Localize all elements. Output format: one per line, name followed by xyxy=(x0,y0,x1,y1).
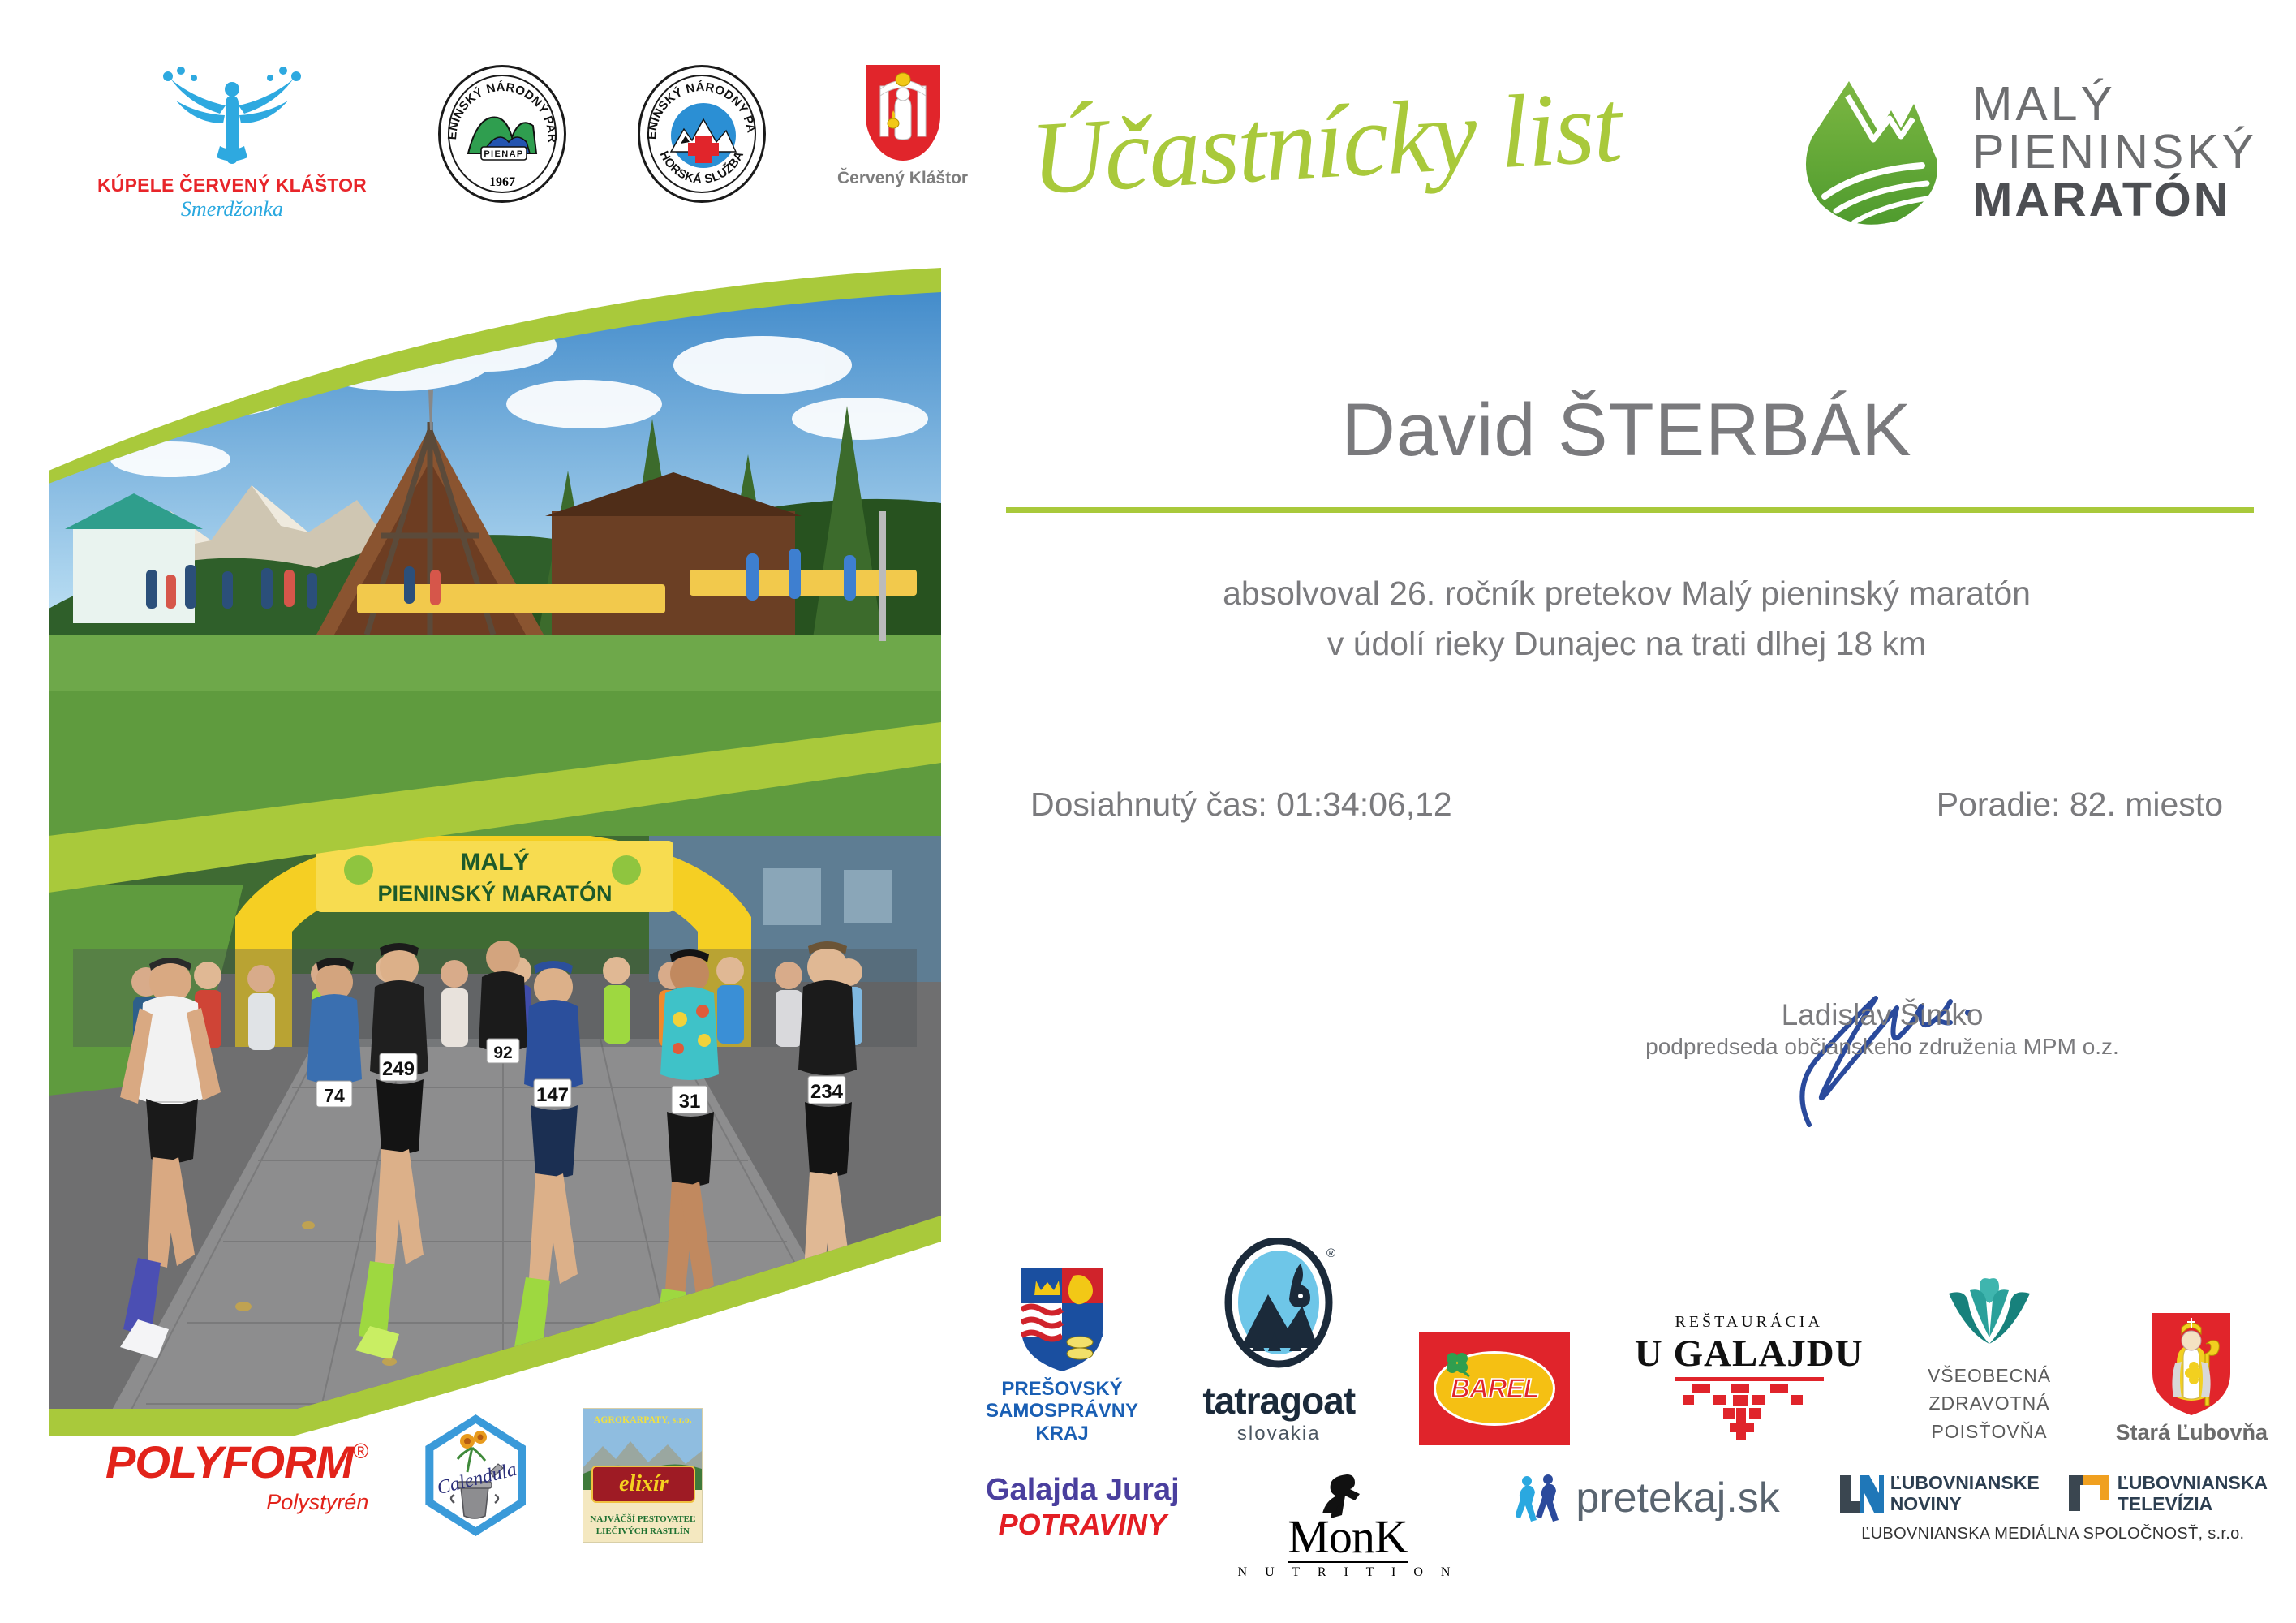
vzp-line-1: VŠEOBECNÁ xyxy=(1928,1362,2051,1390)
partner-logo-horska-sluzba: PIENINSKÝ NÁRODNÝ PARK HORSKÁ SLUŽBA xyxy=(638,65,766,203)
sponsor-name: elixír xyxy=(619,1471,669,1497)
page-title: Účastnícky list xyxy=(1028,69,1714,211)
barel-oval-icon: BAREL xyxy=(1434,1351,1555,1426)
sponsor-stara-lubovna: Stará Ľubovňa xyxy=(2115,1313,2268,1445)
svg-text:92: 92 xyxy=(493,1044,512,1062)
top-partner-logos: KÚPELE ČERVENÝ KLÁŠTOR Smerdžonka PIENIN… xyxy=(97,65,968,222)
sponsor-subname: Polystyrén xyxy=(105,1490,368,1515)
leaf-mountain-icon xyxy=(1800,75,1945,229)
ln-line-2: NOVINY xyxy=(1890,1494,2040,1515)
pienap-year: 1967 xyxy=(441,175,564,190)
stara-lubovna-crest-icon xyxy=(2152,1313,2230,1415)
cerveny-klastor-crest-icon xyxy=(866,65,940,161)
horska-sluzba-seal-icon: PIENINSKÝ NÁRODNÝ PARK HORSKÁ SLUŽBA xyxy=(638,65,766,203)
partner-logo-obec-cerveny-klastor: Červený Kláštor xyxy=(837,65,968,188)
event-photo-collage: MALÝ PIENINSKÝ MARATÓN xyxy=(49,268,941,1436)
sponsor-row-1: PREŠOVSKÝ SAMOSPRÁVNY KRAJ ® tatragoat s… xyxy=(986,1238,2268,1445)
sponsor-lubovnianske-media: ĽUBOVNIANSKE NOVINY ĽUBOVNIANSKA TELEVÍZ… xyxy=(1838,1473,2268,1543)
sponsor-presovsky-samospravny-kraj: PREŠOVSKÝ SAMOSPRÁVNY KRAJ xyxy=(986,1268,1138,1445)
water-angel-icon xyxy=(139,65,325,174)
pienap-seal-icon: PIENINSKÝ NÁRODNÝ PARK PIENAP 1967 xyxy=(438,65,566,203)
lt-mark-icon xyxy=(2067,1474,2111,1514)
body-line-2: v údolí rieky Dunajec na trati dlhej 18 … xyxy=(1006,618,2247,669)
sponsor-caption: PREŠOVSKÝ SAMOSPRÁVNY KRAJ xyxy=(986,1378,1138,1445)
participant-name: David ŠTERBÁK xyxy=(1006,388,2247,473)
galajda-line-1: Galajda Juraj xyxy=(986,1473,1180,1508)
agrokarpaty-caption: NAJVÄČŠÍ PESTOVATEĽ LIEČIVÝCH RASTLÍN xyxy=(583,1513,702,1537)
svg-text:MALÝ: MALÝ xyxy=(461,848,530,876)
tatragoat-icon: ® xyxy=(1221,1238,1336,1374)
sponsor-name: POLYFORM xyxy=(105,1436,353,1488)
title-divider xyxy=(1006,507,2254,513)
sponsor-subname: slovakia xyxy=(1237,1423,1321,1445)
result-time: Dosiahnutý čas: 01:34:06,12 xyxy=(1030,786,1452,824)
sponsor-name: tatragoat xyxy=(1202,1379,1355,1423)
sponsor-name: pretekaj.sk xyxy=(1576,1474,1779,1522)
two-runners-icon xyxy=(1516,1473,1567,1523)
registered-mark: ® xyxy=(353,1439,368,1464)
media-company-footer: ĽUBOVNIANSKA MEDIÁLNA SPOLOČNOSŤ, s.r.o. xyxy=(1861,1525,2244,1543)
svg-text:74: 74 xyxy=(324,1085,345,1106)
svg-text:31: 31 xyxy=(679,1091,701,1113)
galajdu-line-1: REŠTAURÁCIA xyxy=(1675,1313,1823,1332)
certificate-page: KÚPELE ČERVENÝ KLÁŠTOR Smerdžonka PIENIN… xyxy=(0,0,2296,1623)
sponsor-subname: N U T R I T I O N xyxy=(1238,1565,1458,1580)
svg-text:PIENINSKÝ NÁRODNÝ PARK: PIENINSKÝ NÁRODNÝ PARK xyxy=(640,67,758,140)
psk-crest-icon xyxy=(1021,1268,1103,1371)
result-row: Dosiahnutý čas: 01:34:06,12 Poradie: 82.… xyxy=(1006,786,2247,824)
partner-caption: Červený Kláštor xyxy=(837,169,968,188)
sponsor-barel: BAREL xyxy=(1419,1332,1570,1445)
partner-caption: KÚPELE ČERVENÝ KLÁŠTOR xyxy=(97,174,367,196)
sponsor-galajda-juraj: Galajda Juraj POTRAVINY xyxy=(986,1473,1180,1542)
agrokarpaty-top-caption: AGROKARPATY, s.r.o. PLAVNICA xyxy=(583,1409,702,1431)
partner-logo-kupele-cerveny-klastor: KÚPELE ČERVENÝ KLÁŠTOR Smerdžonka xyxy=(97,65,367,222)
svg-text:234: 234 xyxy=(810,1081,844,1103)
svg-text:HORSKÁ SLUŽBA: HORSKÁ SLUŽBA xyxy=(657,149,747,187)
sponsor-monk-nutrition: MonK N U T R I T I O N xyxy=(1238,1473,1458,1580)
agro-cap-2: LIEČIVÝCH RASTLÍN xyxy=(583,1526,702,1537)
svg-text:®: ® xyxy=(1326,1246,1335,1260)
certificate-body: absolvoval 26. ročník pretekov Malý pien… xyxy=(1006,568,2247,669)
sponsor-agrokarpaty: AGROKARPATY, s.r.o. PLAVNICA elixír NAJV… xyxy=(583,1408,703,1543)
folk-ornament-icon xyxy=(1668,1375,1830,1445)
svg-text:249: 249 xyxy=(382,1058,415,1080)
vzp-line-2: ZDRAVOTNÁ xyxy=(1928,1389,2051,1418)
signature-name: Ladislav Šimko xyxy=(1623,998,2142,1032)
signature-block: Ladislav Šimko podpredseda občianskeho z… xyxy=(1623,998,2142,1060)
galajda-line-2: POTRAVINY xyxy=(999,1508,1167,1542)
event-logo-line-3: MARATÓN xyxy=(1972,176,2257,224)
galajdu-line-2: U GALAJDU xyxy=(1635,1332,1864,1375)
psk-line-2: SAMOSPRÁVNY xyxy=(986,1400,1138,1423)
sponsor-name: MonK xyxy=(1288,1513,1407,1563)
result-place: Poradie: 82. miesto xyxy=(1937,786,2223,824)
sponsor-row-2: Galajda Juraj POTRAVINY MonK N U T R I T… xyxy=(986,1473,2268,1580)
lt-line-2: TELEVÍZIA xyxy=(2118,1494,2268,1515)
agro-cap-1: NAJVÄČŠÍ PESTOVATEĽ xyxy=(583,1513,702,1525)
sponsor-lubovnianska-televizia: ĽUBOVNIANSKA TELEVÍZIA xyxy=(2067,1473,2268,1515)
vzp-line-3: POISŤOVŇA xyxy=(1928,1418,2051,1446)
signature-role: podpredseda občianskeho združenia MPM o.… xyxy=(1623,1034,2142,1060)
sponsor-caption: Stará Ľubovňa xyxy=(2115,1420,2268,1445)
sponsor-polyform: POLYFORM ® Polystyrén xyxy=(105,1436,368,1515)
sponsor-tatragoat: ® tatragoat slovakia xyxy=(1202,1238,1355,1445)
psk-line-1: PREŠOVSKÝ xyxy=(986,1378,1138,1401)
svg-text:PIENINSKÝ NÁRODNÝ PARK: PIENINSKÝ NÁRODNÝ PARK xyxy=(441,67,558,143)
ln-line-1: ĽUBOVNIANSKE xyxy=(1890,1473,2040,1494)
sponsor-lubovnianske-noviny: ĽUBOVNIANSKE NOVINY xyxy=(1838,1473,2040,1515)
svg-text:147: 147 xyxy=(536,1084,569,1106)
sponsor-caption: VŠEOBECNÁ ZDRAVOTNÁ POISŤOVŇA xyxy=(1928,1362,2051,1446)
partner-subcaption: Smerdžonka xyxy=(181,197,283,222)
sponsor-vzp: VŠEOBECNÁ ZDRAVOTNÁ POISŤOVŇA xyxy=(1928,1274,2051,1446)
event-logo-line-2: PIENINSKÝ xyxy=(1972,128,2257,176)
body-line-1: absolvoval 26. ročník pretekov Malý pien… xyxy=(1006,568,2247,618)
calendula-mortar-icon: Calendula xyxy=(433,1423,518,1527)
psk-line-3: KRAJ xyxy=(986,1423,1138,1445)
sponsor-row-left: POLYFORM ® Polystyrén Calendu xyxy=(105,1408,703,1543)
event-logo: MALÝ PIENINSKÝ MARATÓN xyxy=(1800,75,2257,229)
sponsor-pretekaj-sk: pretekaj.sk xyxy=(1516,1473,1779,1523)
sponsor-calendula: Calendula xyxy=(425,1414,526,1536)
svg-text:PIENINSKÝ MARATÓN: PIENINSKÝ MARATÓN xyxy=(377,880,612,906)
lt-line-1: ĽUBOVNIANSKA xyxy=(2118,1473,2268,1494)
sponsor-u-galajdu: REŠTAURÁCIA U GALAJDU xyxy=(1635,1313,1864,1445)
vzp-icon xyxy=(1939,1274,2040,1355)
event-logo-line-1: MALÝ xyxy=(1972,80,2257,128)
ln-mark-icon xyxy=(1838,1474,1884,1514)
partner-logo-pienap: PIENINSKÝ NÁRODNÝ PARK PIENAP 1967 xyxy=(438,65,566,203)
